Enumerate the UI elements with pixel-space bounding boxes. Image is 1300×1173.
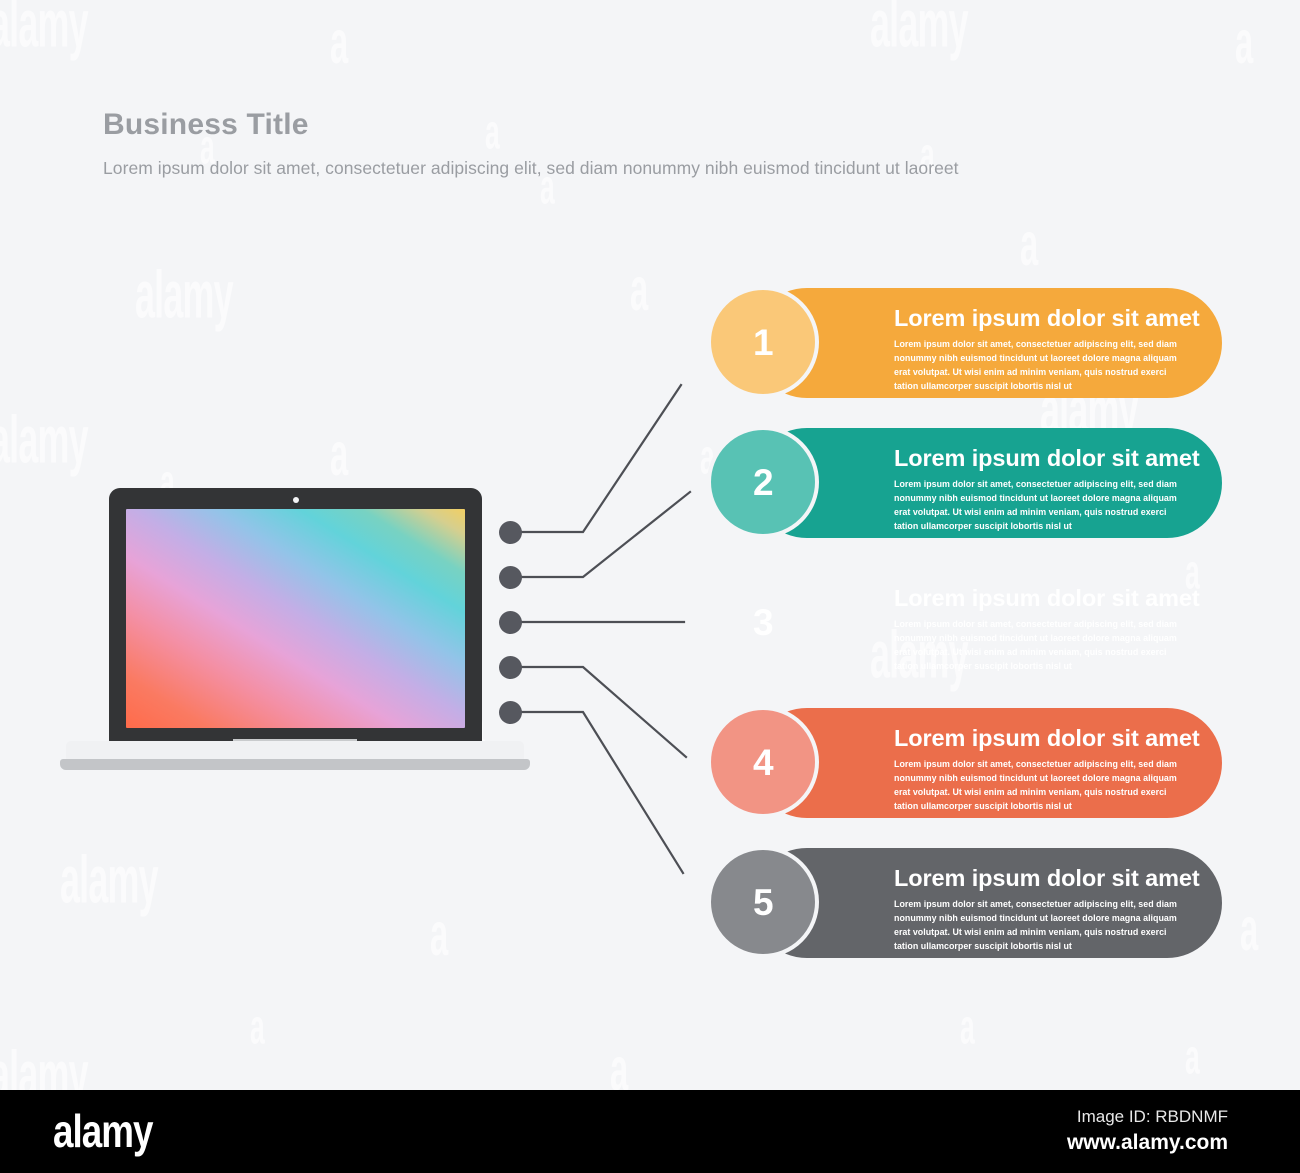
footer-bar: alamy Image ID: RBDNMF www.alamy.com: [0, 1090, 1300, 1173]
step-row: Lorem ipsum dolor sit ametLorem ipsum do…: [707, 568, 1222, 678]
laptop-illustration: [60, 488, 530, 768]
step-bars-list: Lorem ipsum dolor sit ametLorem ipsum do…: [707, 288, 1222, 988]
watermark-text: a: [330, 420, 347, 490]
step-number-circle[interactable]: 1: [707, 286, 819, 398]
watermark-text: a: [430, 900, 447, 970]
step-number-circle[interactable]: 5: [707, 846, 819, 958]
node-dot-2[interactable]: [499, 566, 522, 589]
watermark-text: a: [1185, 1030, 1199, 1087]
alamy-logo: alamy: [53, 1108, 153, 1154]
step-number: 5: [753, 884, 773, 921]
laptop-lid: [109, 488, 482, 746]
laptop-screen: [126, 509, 465, 728]
step-row: Lorem ipsum dolor sit ametLorem ipsum do…: [707, 848, 1222, 958]
step-description: Lorem ipsum dolor sit amet, consectetuer…: [894, 478, 1180, 533]
connector-path-4: [520, 667, 686, 757]
step-description: Lorem ipsum dolor sit amet, consectetuer…: [894, 618, 1180, 673]
connector-path-1: [520, 385, 681, 532]
connector-path-5: [520, 712, 683, 873]
watermark-text: a: [1240, 895, 1257, 965]
step-heading: Lorem ipsum dolor sit amet: [894, 865, 1180, 891]
watermark-text: a: [330, 8, 347, 78]
step-row: Lorem ipsum dolor sit ametLorem ipsum do…: [707, 708, 1222, 818]
step-bar[interactable]: Lorem ipsum dolor sit ametLorem ipsum do…: [752, 428, 1222, 538]
step-row: Lorem ipsum dolor sit ametLorem ipsum do…: [707, 428, 1222, 538]
watermark-text: alamy: [60, 840, 158, 918]
infographic-canvas: alamyaaalamyaalamyaaalamyaalamyaaaaalamy…: [0, 0, 1300, 1173]
node-dot-3[interactable]: [499, 611, 522, 634]
step-bar[interactable]: Lorem ipsum dolor sit ametLorem ipsum do…: [752, 708, 1222, 818]
step-bar[interactable]: Lorem ipsum dolor sit ametLorem ipsum do…: [752, 848, 1222, 958]
watermark-text: alamy: [135, 255, 233, 333]
webcam-icon: [293, 497, 299, 503]
node-dot-4[interactable]: [499, 656, 522, 679]
step-number: 2: [753, 464, 773, 501]
step-row: Lorem ipsum dolor sit ametLorem ipsum do…: [707, 288, 1222, 398]
step-description: Lorem ipsum dolor sit amet, consectetuer…: [894, 758, 1180, 813]
watermark-text: a: [1020, 210, 1037, 280]
website-url[interactable]: www.alamy.com: [1067, 1131, 1228, 1155]
page-subtitle: Lorem ipsum dolor sit amet, consectetuer…: [103, 157, 1163, 180]
watermark-text: a: [250, 1000, 264, 1057]
step-number-circle[interactable]: 4: [707, 706, 819, 818]
step-number: 3: [753, 604, 773, 641]
laptop-base-bottom: [60, 759, 530, 770]
watermark-text: a: [630, 255, 647, 325]
step-description: Lorem ipsum dolor sit amet, consectetuer…: [894, 898, 1180, 953]
step-heading: Lorem ipsum dolor sit amet: [894, 305, 1180, 331]
watermark-text: a: [1235, 8, 1252, 78]
step-description: Lorem ipsum dolor sit amet, consectetuer…: [894, 338, 1180, 393]
step-bar[interactable]: Lorem ipsum dolor sit ametLorem ipsum do…: [752, 568, 1222, 678]
step-heading: Lorem ipsum dolor sit amet: [894, 445, 1180, 471]
step-number: 4: [753, 744, 773, 781]
step-heading: Lorem ipsum dolor sit amet: [894, 585, 1180, 611]
step-heading: Lorem ipsum dolor sit amet: [894, 725, 1180, 751]
node-dot-1[interactable]: [499, 521, 522, 544]
header: Business Title Lorem ipsum dolor sit ame…: [103, 108, 1163, 179]
step-number-circle[interactable]: 2: [707, 426, 819, 538]
image-id-label: Image ID: RBDNMF: [1077, 1107, 1228, 1127]
watermark-text: alamy: [0, 400, 88, 478]
page-title: Business Title: [103, 108, 1163, 143]
watermark-text: alamy: [0, 0, 88, 62]
connector-path-2: [520, 492, 690, 577]
step-number-circle[interactable]: 3: [707, 566, 819, 678]
watermark-text: a: [960, 1000, 974, 1057]
step-bar[interactable]: Lorem ipsum dolor sit ametLorem ipsum do…: [752, 288, 1222, 398]
watermark-text: alamy: [870, 0, 968, 62]
node-dot-5[interactable]: [499, 701, 522, 724]
step-number: 1: [753, 324, 773, 361]
